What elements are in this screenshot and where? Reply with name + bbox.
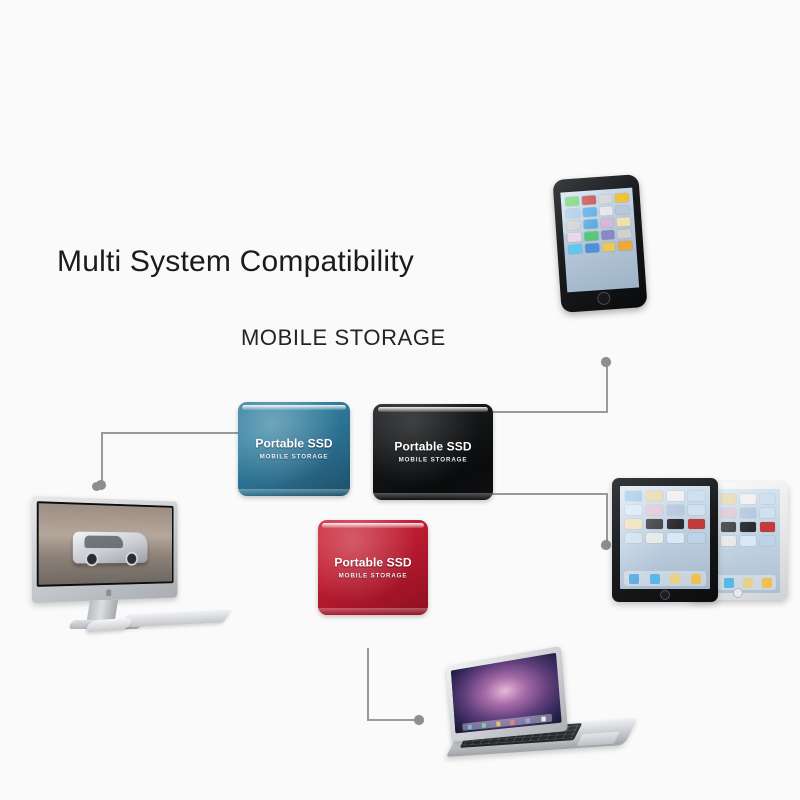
tablet-dock-app-icon bbox=[670, 574, 680, 584]
tablet-app-icon bbox=[646, 533, 663, 543]
phone-app-icon bbox=[601, 230, 615, 240]
laptop-screen-wallpaper bbox=[451, 653, 562, 734]
ssd-label-group: Portable SSD MOBILE STORAGE bbox=[238, 437, 350, 462]
tablet-dock-app-icon bbox=[691, 574, 701, 584]
phone-app-icon bbox=[616, 205, 630, 215]
tablet-app-icon bbox=[625, 491, 642, 501]
portable-ssd-blue[interactable]: Portable SSD MOBILE STORAGE bbox=[238, 402, 350, 496]
ssd-bottom-edge bbox=[373, 493, 493, 500]
ssd-brand-label: Portable SSD bbox=[238, 437, 350, 452]
phone-app-icon bbox=[601, 242, 615, 252]
tablet-dock-app-icon bbox=[762, 578, 772, 588]
phone-app-icon bbox=[617, 229, 631, 239]
tablet-app-icon bbox=[667, 533, 684, 543]
tablet-app-icon bbox=[667, 505, 684, 515]
tablet-black-screen bbox=[620, 486, 710, 589]
tablet-app-icon bbox=[688, 533, 705, 543]
phone-app-icon bbox=[615, 193, 629, 203]
connector-black-to-phone-vertical bbox=[606, 366, 608, 412]
phone-app-icon bbox=[598, 194, 612, 204]
phone-app-icon bbox=[568, 244, 582, 254]
tablet-app-icon bbox=[688, 491, 705, 501]
tablet-app-icon bbox=[721, 494, 737, 504]
connector-node-tablets bbox=[601, 540, 611, 550]
laptop-dock-app-icon bbox=[481, 723, 485, 728]
desktop-display-frame bbox=[32, 496, 177, 603]
connector-red-to-laptop-vertical bbox=[367, 648, 369, 721]
laptop-dock-app-icon bbox=[496, 721, 500, 726]
tablet-white-home-button bbox=[733, 588, 743, 598]
phone-screen bbox=[560, 188, 639, 293]
laptop-lid bbox=[446, 646, 568, 742]
tablet-app-icon bbox=[760, 522, 776, 532]
portable-ssd-red[interactable]: Portable SSD MOBILE STORAGE bbox=[318, 520, 428, 615]
wallpaper-car-body bbox=[73, 531, 147, 563]
tablet-app-icon bbox=[667, 519, 684, 529]
phone-app-icon bbox=[567, 232, 581, 242]
tablet-app-icon bbox=[625, 533, 642, 543]
wallpaper-car-wheel-left bbox=[86, 552, 99, 566]
tablet-dock-app-icon bbox=[724, 578, 734, 588]
ssd-bottom-edge bbox=[318, 608, 428, 615]
laptop-device bbox=[428, 645, 633, 763]
phone-app-icon bbox=[565, 196, 579, 206]
phone-app-icon bbox=[585, 243, 599, 253]
laptop-dock bbox=[462, 714, 552, 731]
phone-app-icon bbox=[583, 219, 597, 229]
tablet-black-app-grid bbox=[625, 491, 705, 543]
phone-app-icon bbox=[582, 207, 596, 217]
connector-node-laptop bbox=[414, 715, 424, 725]
phone-app-icon bbox=[616, 217, 630, 227]
tablet-black-device bbox=[612, 478, 718, 602]
connector-blue-to-desktop-horizontal bbox=[101, 432, 240, 434]
connector-blue-to-desktop-vertical bbox=[101, 432, 103, 485]
tablet-app-icon bbox=[646, 505, 663, 515]
desktop-display-bezel bbox=[37, 501, 174, 587]
tablet-app-icon bbox=[721, 508, 737, 518]
desktop-computer-device bbox=[26, 488, 224, 638]
tablet-app-icon bbox=[625, 519, 642, 529]
connector-red-to-laptop-horizontal bbox=[367, 719, 419, 721]
ssd-label-group: Portable SSD MOBILE STORAGE bbox=[318, 555, 428, 580]
laptop-dock-app-icon bbox=[467, 724, 471, 729]
tablet-app-icon bbox=[760, 536, 776, 546]
ssd-label-group: Portable SSD MOBILE STORAGE bbox=[373, 440, 493, 465]
page-title: Multi System Compatibility bbox=[57, 245, 414, 279]
ssd-bottom-edge bbox=[238, 489, 350, 496]
phone-app-grid bbox=[565, 193, 633, 254]
portable-ssd-black[interactable]: Portable SSD MOBILE STORAGE bbox=[373, 404, 493, 500]
tablet-app-icon bbox=[646, 491, 663, 501]
tablet-dock-app-icon bbox=[629, 574, 639, 584]
ssd-top-highlight bbox=[242, 405, 345, 410]
ssd-sub-label: MOBILE STORAGE bbox=[373, 457, 493, 465]
phone-app-icon bbox=[566, 208, 580, 218]
tablet-app-icon bbox=[688, 505, 705, 515]
tablet-devices-group bbox=[612, 478, 794, 604]
phone-app-icon bbox=[600, 218, 614, 228]
smartphone-device bbox=[552, 174, 647, 313]
tablet-app-icon bbox=[760, 494, 776, 504]
tablet-app-icon bbox=[721, 536, 737, 546]
phone-app-icon bbox=[581, 195, 595, 205]
laptop-dock-app-icon bbox=[526, 718, 531, 723]
tablet-black-dock bbox=[624, 571, 706, 586]
tablet-app-icon bbox=[740, 536, 756, 546]
page-subtitle: MOBILE STORAGE bbox=[241, 325, 446, 351]
tablet-dock-app-icon bbox=[650, 574, 660, 584]
ssd-sub-label: MOBILE STORAGE bbox=[238, 454, 350, 462]
tablet-dock-app-icon bbox=[743, 578, 753, 588]
tablet-app-icon bbox=[740, 494, 756, 504]
tablet-app-icon bbox=[721, 522, 737, 532]
tablet-app-icon bbox=[688, 519, 705, 529]
tablet-app-icon bbox=[760, 508, 776, 518]
ssd-top-highlight bbox=[378, 407, 488, 412]
desktop-keyboard bbox=[120, 609, 232, 627]
phone-app-icon bbox=[618, 241, 632, 251]
ssd-brand-label: Portable SSD bbox=[318, 555, 428, 570]
ssd-brand-label: Portable SSD bbox=[373, 440, 493, 455]
laptop-dock-app-icon bbox=[541, 716, 546, 721]
tablet-app-icon bbox=[740, 522, 756, 532]
desktop-wallpaper-racecar bbox=[39, 503, 172, 585]
desktop-chin-logo bbox=[106, 590, 111, 597]
tablet-app-icon bbox=[740, 508, 756, 518]
connector-node-desktop-top bbox=[92, 482, 101, 491]
connector-black-to-tablets-vertical bbox=[606, 493, 608, 545]
connector-node-phone bbox=[601, 357, 611, 367]
tablet-app-icon bbox=[646, 519, 663, 529]
ssd-sub-label: MOBILE STORAGE bbox=[318, 572, 428, 580]
phone-app-icon bbox=[599, 206, 613, 216]
tablet-app-icon bbox=[625, 505, 642, 515]
phone-app-icon bbox=[584, 231, 598, 241]
tablet-black-home-button bbox=[660, 590, 670, 600]
connector-black-to-tablets-horizontal bbox=[491, 493, 608, 495]
laptop-dock-app-icon bbox=[510, 719, 515, 724]
connector-black-to-phone-horizontal bbox=[491, 411, 608, 413]
phone-app-icon bbox=[566, 220, 580, 230]
ssd-top-highlight bbox=[322, 523, 423, 528]
tablet-app-icon bbox=[667, 491, 684, 501]
compatibility-diagram: Multi System Compatibility MOBILE STORAG… bbox=[0, 0, 800, 800]
wallpaper-car-wheel-right bbox=[126, 552, 138, 566]
